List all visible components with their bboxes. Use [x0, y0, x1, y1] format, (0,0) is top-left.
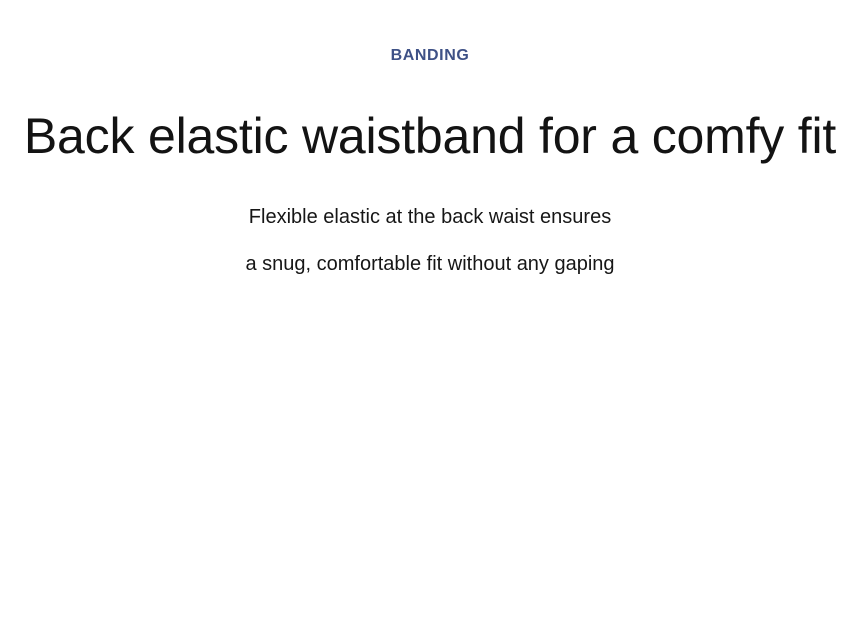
subtitle-line: Flexible elastic at the back waist ensur…	[0, 194, 860, 241]
page-title: Back elastic waistband for a comfy fit	[0, 66, 860, 164]
subtitle-text: Flexible elastic at the back waist ensur…	[0, 164, 860, 288]
subtitle-line: a snug, comfortable fit without any gapi…	[0, 241, 860, 288]
category-eyebrow-label: BANDING	[0, 0, 860, 66]
empty-content-area	[0, 300, 860, 623]
slide-content-block: BANDING Back elastic waistband for a com…	[0, 0, 860, 288]
product-feature-slide: BANDING Back elastic waistband for a com…	[0, 0, 860, 623]
